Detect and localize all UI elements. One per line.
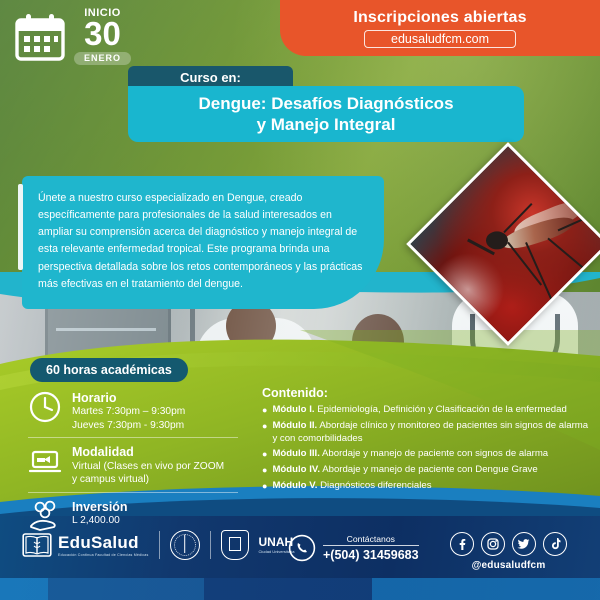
academic-hours-label: 60 horas académicas bbox=[46, 363, 172, 377]
detail-title: Modalidad bbox=[72, 445, 224, 459]
logo-divider bbox=[159, 531, 160, 559]
module-text: Epidemiología, Definición y Clasificació… bbox=[317, 404, 567, 415]
twitter-icon[interactable] bbox=[512, 532, 536, 556]
facebook-icon[interactable] bbox=[450, 532, 474, 556]
detail-line2: y campus virtual) bbox=[72, 473, 224, 486]
medical-seal-logo bbox=[170, 530, 200, 560]
laptop-icon bbox=[28, 444, 62, 478]
calendar-icon bbox=[14, 12, 66, 62]
module-name: Módulo IV. bbox=[272, 464, 320, 475]
bullet-icon: ● bbox=[262, 480, 267, 493]
module-item: ● Módulo IV. Abordaje y manejo de pacien… bbox=[262, 464, 592, 477]
start-month: ENERO bbox=[74, 52, 131, 65]
banner-title: Inscripciones abiertas bbox=[353, 9, 526, 27]
logo-divider bbox=[210, 531, 211, 559]
module-item: ● Módulo I. Epidemiología, Definición y … bbox=[262, 404, 592, 417]
detail-title: Inversión bbox=[72, 500, 128, 514]
content-heading: Contenido: bbox=[262, 386, 592, 400]
contact-block[interactable]: Contáctanos +(504) 31459683 bbox=[288, 534, 419, 562]
tiktok-icon[interactable] bbox=[543, 532, 567, 556]
unah-shield-icon bbox=[221, 530, 249, 560]
banner-url[interactable]: edusaludfcm.com bbox=[364, 30, 516, 48]
module-item: ● Módulo II. Abordaje clínico y monitore… bbox=[262, 420, 592, 445]
footer-color-strip bbox=[0, 578, 600, 600]
module-name: Módulo I. bbox=[272, 404, 314, 415]
detail-line1: Virtual (Clases en vivo por ZOOM bbox=[72, 460, 224, 473]
detail-line1: Martes 7:30pm – 9:30pm bbox=[72, 405, 185, 418]
bullet-icon: ● bbox=[262, 420, 267, 445]
course-title-line1: Dengue: Desafíos Diagnósticos bbox=[198, 93, 453, 114]
bullet-icon: ● bbox=[262, 404, 267, 417]
contact-label: Contáctanos bbox=[323, 534, 419, 546]
flyer-canvas: INICIO 30 ENERO Inscripciones abiertas e… bbox=[0, 0, 600, 600]
social-block: @edusaludfcm bbox=[450, 532, 567, 571]
detail-row-horario: Horario Martes 7:30pm – 9:30pm Jueves 7:… bbox=[28, 390, 238, 437]
course-title-panel: Dengue: Desafíos Diagnósticos y Manejo I… bbox=[128, 86, 524, 142]
bullet-icon: ● bbox=[262, 448, 267, 461]
mosquito-head bbox=[486, 231, 508, 249]
book-caduceus-icon bbox=[22, 532, 52, 558]
module-text: Diagnósticos diferenciales bbox=[320, 480, 431, 491]
hand-coins-icon bbox=[28, 499, 62, 533]
course-content-block: Contenido: ● Módulo I. Epidemiología, De… bbox=[262, 386, 592, 496]
instagram-icon[interactable] bbox=[481, 532, 505, 556]
detail-line2: Jueves 7:30pm - 9:30pm bbox=[72, 419, 185, 432]
detail-row-modalidad: Modalidad Virtual (Clases en vivo por ZO… bbox=[28, 437, 238, 491]
contact-number[interactable]: +(504) 31459683 bbox=[323, 548, 419, 562]
course-tab-label: Curso en: bbox=[180, 70, 241, 85]
course-details-list: Horario Martes 7:30pm – 9:30pm Jueves 7:… bbox=[28, 390, 238, 538]
course-title-line2: y Manejo Integral bbox=[257, 114, 396, 135]
module-name: Módulo III. bbox=[272, 448, 319, 459]
social-handle: @edusaludfcm bbox=[450, 560, 567, 571]
edusalud-tagline: Educación Continua Facultad de Ciencias … bbox=[58, 553, 149, 557]
registration-banner[interactable]: Inscripciones abiertas edusaludfcm.com bbox=[280, 0, 600, 56]
module-text: Abordaje clínico y monitoreo de paciente… bbox=[272, 420, 588, 443]
academic-hours-badge: 60 horas académicas bbox=[30, 358, 188, 382]
clock-icon bbox=[28, 390, 62, 424]
edusalud-logo: EduSalud Educación Continua Facultad de … bbox=[22, 532, 149, 558]
start-day: 30 bbox=[74, 18, 131, 49]
bullet-icon: ● bbox=[262, 464, 267, 477]
description-text: Únete a nuestro curso especializado en D… bbox=[38, 190, 368, 293]
description-accent-bar bbox=[18, 184, 23, 270]
detail-title: Horario bbox=[72, 391, 185, 405]
module-name: Módulo V. bbox=[272, 480, 317, 491]
detail-line1: L 2,400.00 bbox=[72, 514, 128, 527]
footer-logos: EduSalud Educación Continua Facultad de … bbox=[22, 530, 295, 560]
whatsapp-icon[interactable] bbox=[288, 534, 316, 562]
module-text: Abordaje y manejo de paciente con signos… bbox=[322, 448, 548, 459]
edusalud-wordmark: EduSalud bbox=[58, 534, 149, 551]
seal-ring bbox=[174, 534, 196, 556]
module-item: ● Módulo V. Diagnósticos diferenciales bbox=[262, 480, 592, 493]
module-text: Abordaje y manejo de paciente con Dengue… bbox=[322, 464, 537, 475]
course-tab: Curso en: bbox=[128, 66, 293, 88]
module-item: ● Módulo III. Abordaje y manejo de pacie… bbox=[262, 448, 592, 461]
module-name: Módulo II. bbox=[272, 420, 317, 431]
start-date-block: INICIO 30 ENERO bbox=[14, 8, 131, 65]
description-block: Únete a nuestro curso especializado en D… bbox=[22, 176, 384, 309]
